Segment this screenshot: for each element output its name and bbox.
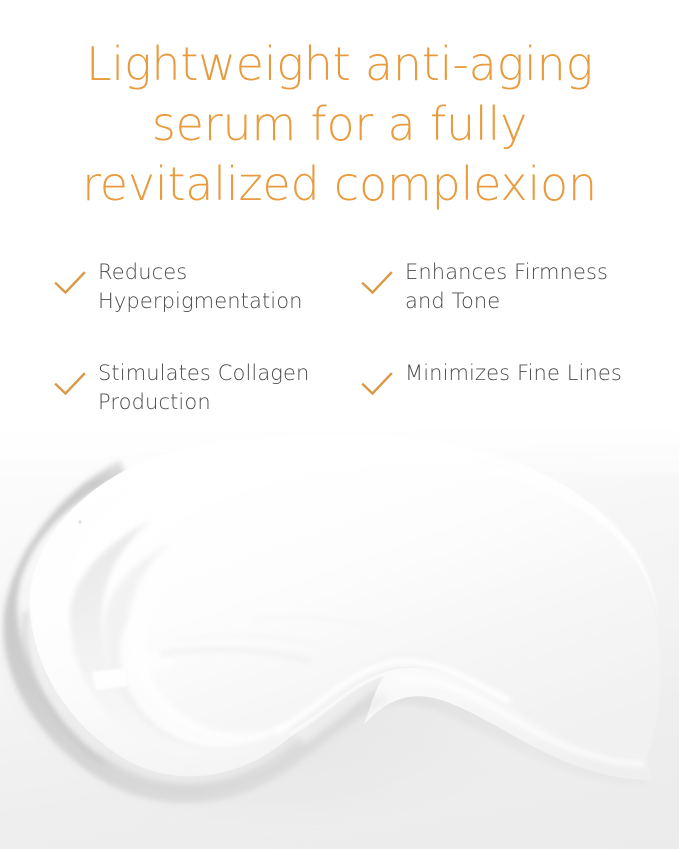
feature-item-minimizes-fine-lines: Minimizes Fine Lines: [359, 359, 652, 416]
check-icon: [361, 372, 393, 398]
headline-line-1: Lightweight anti-aging: [0, 34, 679, 94]
page-title: Lightweight anti-aging serum for a fully…: [0, 34, 679, 214]
feature-list: Reduces Hyperpigmentation Enhances Firmn…: [52, 258, 652, 416]
cream-swatch-illustration: [0, 424, 679, 849]
product-feature-panel: Lightweight anti-aging serum for a fully…: [0, 0, 679, 849]
feature-item-reduces-hyperpigmentation: Reduces Hyperpigmentation: [52, 258, 359, 359]
feature-label: Minimizes Fine Lines: [405, 359, 652, 388]
check-icon: [54, 271, 86, 297]
feature-label: Reduces Hyperpigmentation: [98, 258, 348, 315]
feature-label: Enhances Firmness and Tone: [405, 258, 652, 315]
headline-line-3: revitalized complexion: [0, 154, 679, 214]
headline-line-2: serum for a fully: [0, 94, 679, 154]
check-icon: [361, 271, 393, 297]
check-icon: [54, 372, 86, 398]
product-swatch-image: [0, 424, 679, 849]
feature-label: Stimulates Collagen Production: [98, 359, 348, 416]
feature-item-enhances-firmness-and-tone: Enhances Firmness and Tone: [359, 258, 652, 359]
feature-item-stimulates-collagen-production: Stimulates Collagen Production: [52, 359, 359, 416]
